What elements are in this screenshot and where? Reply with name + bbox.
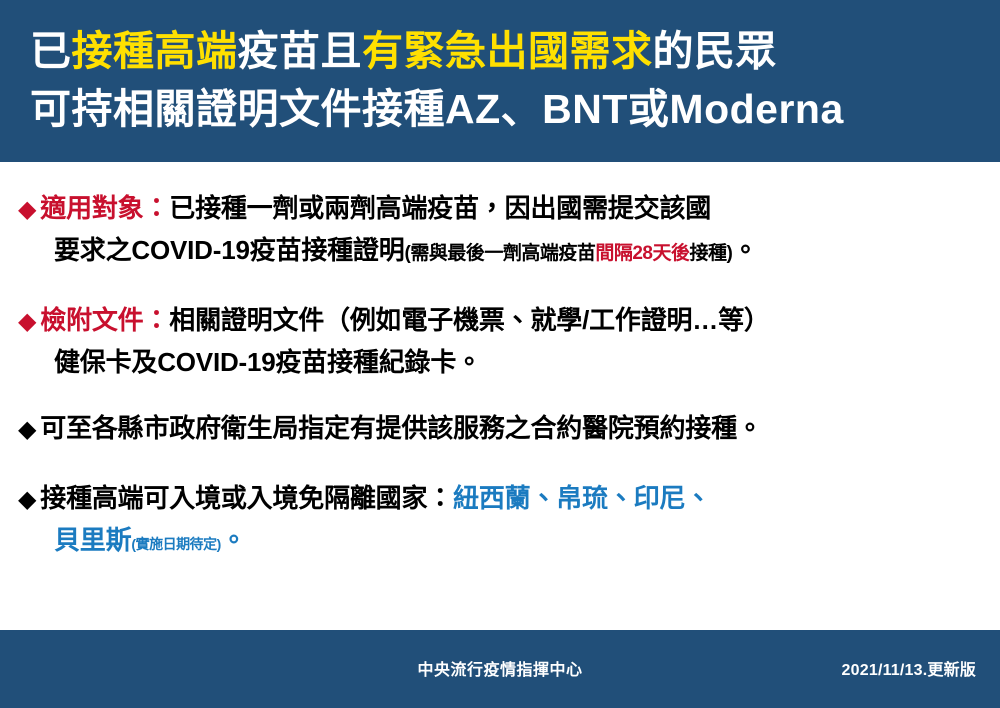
bullet-1-note-close: 接種) <box>690 243 733 264</box>
header-title-line-2: 可持相關證明文件接種AZ、BNT或Moderna <box>30 80 976 138</box>
bullet-4-country-belize: 貝里斯 <box>54 525 131 555</box>
header-seg-white-1: 已 <box>30 28 72 74</box>
header-seg-yellow-1: 接種高端 <box>72 28 238 74</box>
bullet-4-text: 接種高端可入境或入境免隔離國家： <box>40 483 453 513</box>
poster-root: 已接種高端疫苗且有緊急出國需求的民眾 可持相關證明文件接種AZ、BNT或Mode… <box>0 0 1000 708</box>
diamond-bullet-icon: ◆ <box>18 416 40 443</box>
bullet-1-text: 已接種一劑或兩劑高端疫苗，因出國需提交該國 <box>169 193 711 223</box>
bullet-item-eligibility: ◆適用對象：已接種一劑或兩劑高端疫苗，因出國需提交該國 要求之COVID-19疫… <box>18 188 986 274</box>
bullet-item-where-to-book: ◆可至各縣市政府衛生局指定有提供該服務之合約醫院預約接種。 <box>18 408 986 450</box>
footer-band: 中央流行疫情指揮中心 2021/11/13.更新版 <box>0 630 1000 708</box>
bullet-item-documents: ◆檢附文件：相關證明文件（例如電子機票、就學/工作證明…等） 健保卡及COVID… <box>18 300 986 382</box>
header-seg-white-3: 的民眾 <box>653 28 778 74</box>
bullet-4-line-2: 貝里斯(實施日期待定)。 <box>18 520 986 564</box>
bullet-1-note-open: (需與最後一劑高端疫苗 <box>405 243 596 264</box>
bullet-1-line-1: ◆適用對象：已接種一劑或兩劑高端疫苗，因出國需提交該國 <box>18 188 986 230</box>
header-seg-yellow-2: 有緊急出國需求 <box>362 28 653 74</box>
diamond-bullet-icon: ◆ <box>18 486 40 513</box>
bullet-4-line-1: ◆接種高端可入境或入境免隔離國家：紐西蘭、帛琉、印尼、 <box>18 478 986 520</box>
bullet-4-country-note: (實施日期待定) <box>131 536 220 552</box>
bullet-2-line-1: ◆檢附文件：相關證明文件（例如電子機票、就學/工作證明…等） <box>18 300 986 342</box>
bullet-1-line-2: 要求之COVID-19疫苗接種證明(需與最後一劑高端疫苗間隔28天後接種)。 <box>18 230 986 274</box>
bullet-item-countries: ◆接種高端可入境或入境免隔離國家：紐西蘭、帛琉、印尼、 貝里斯(實施日期待定)。 <box>18 478 986 564</box>
bullet-3-line-1: ◆可至各縣市政府衛生局指定有提供該服務之合約醫院預約接種。 <box>18 408 986 450</box>
diamond-bullet-icon: ◆ <box>18 308 40 335</box>
bullet-1-label: 適用對象： <box>40 193 169 223</box>
bullet-4-period: 。 <box>221 525 247 555</box>
footer-update-date: 2021/11/13.更新版 <box>842 656 976 680</box>
bullet-1-note-highlight: 間隔28天後 <box>595 243 689 264</box>
header-seg-white-2: 疫苗且 <box>238 28 363 74</box>
bullet-4-country-list-line-1: 紐西蘭、帛琉、印尼、 <box>453 483 711 513</box>
header-band: 已接種高端疫苗且有緊急出國需求的民眾 可持相關證明文件接種AZ、BNT或Mode… <box>0 0 1000 162</box>
bullet-1-period: 。 <box>732 235 758 265</box>
bullet-1-line-2-main: 要求之COVID-19疫苗接種證明 <box>54 235 405 265</box>
header-title-line-1: 已接種高端疫苗且有緊急出國需求的民眾 <box>30 22 976 80</box>
bullet-2-line-2: 健保卡及COVID-19疫苗接種紀錄卡。 <box>18 342 986 382</box>
bullet-2-label: 檢附文件： <box>40 305 169 335</box>
body-content: ◆適用對象：已接種一劑或兩劑高端疫苗，因出國需提交該國 要求之COVID-19疫… <box>0 162 1000 630</box>
diamond-bullet-icon: ◆ <box>18 196 40 223</box>
bullet-3-text: 可至各縣市政府衛生局指定有提供該服務之合約醫院預約接種。 <box>40 413 762 443</box>
bullet-2-text: 相關證明文件（例如電子機票、就學/工作證明…等） <box>169 305 769 335</box>
